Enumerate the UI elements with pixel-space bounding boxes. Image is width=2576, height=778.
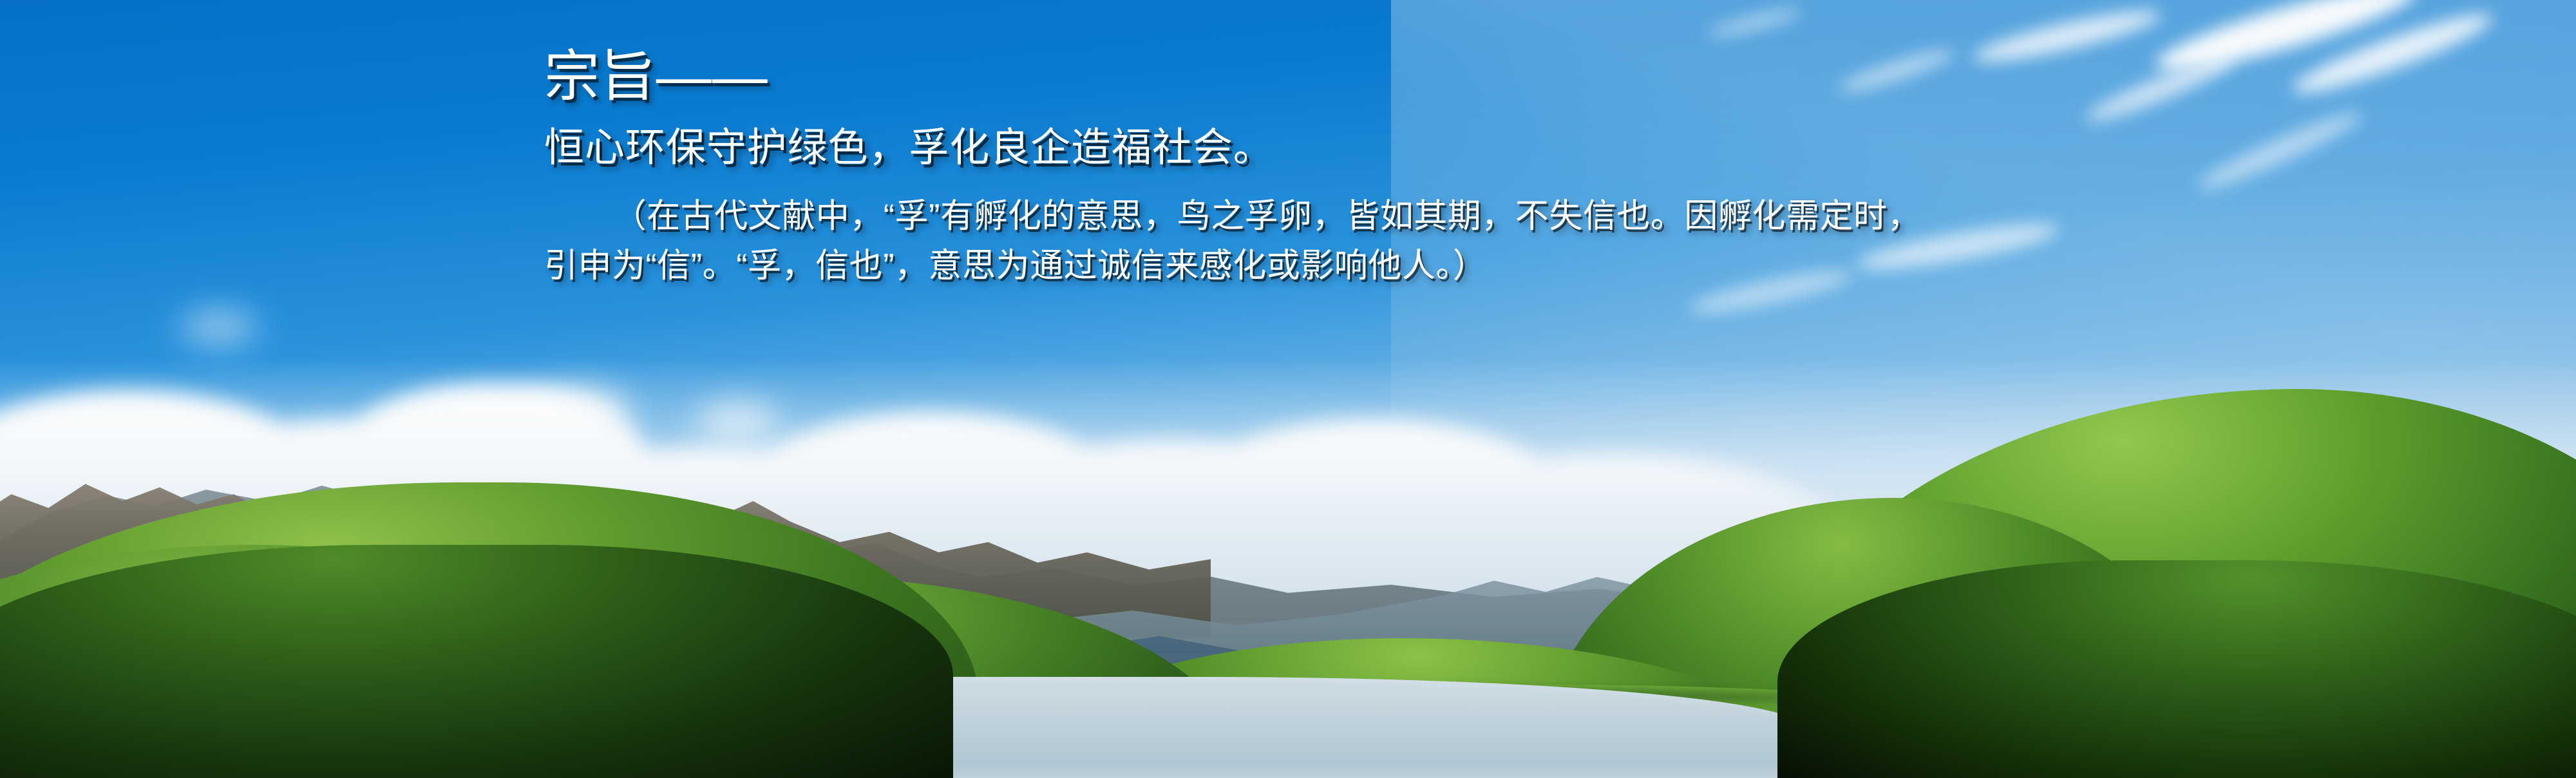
foreground-foliage-left: [0, 545, 953, 778]
banner-text-block: 宗旨—— 恒心环保守护绿色，孚化良企造福社会。 （在古代文献中，“孚”有孵化的意…: [544, 48, 2025, 290]
page-title: 宗旨——: [544, 48, 2025, 106]
foreground-foliage-right: [1777, 560, 2576, 778]
slogan-explanation-note: （在古代文献中，“孚”有孵化的意思，鸟之孚卵，皆如其期，不失信也。因孵化需定时，…: [544, 192, 1929, 291]
cumulus-cloud-small: [180, 311, 258, 343]
purpose-banner: 宗旨—— 恒心环保守护绿色，孚化良企造福社会。 （在古代文献中，“孚”有孵化的意…: [0, 0, 2576, 778]
company-slogan: 恒心环保守护绿色，孚化良企造福社会。: [544, 124, 2025, 172]
